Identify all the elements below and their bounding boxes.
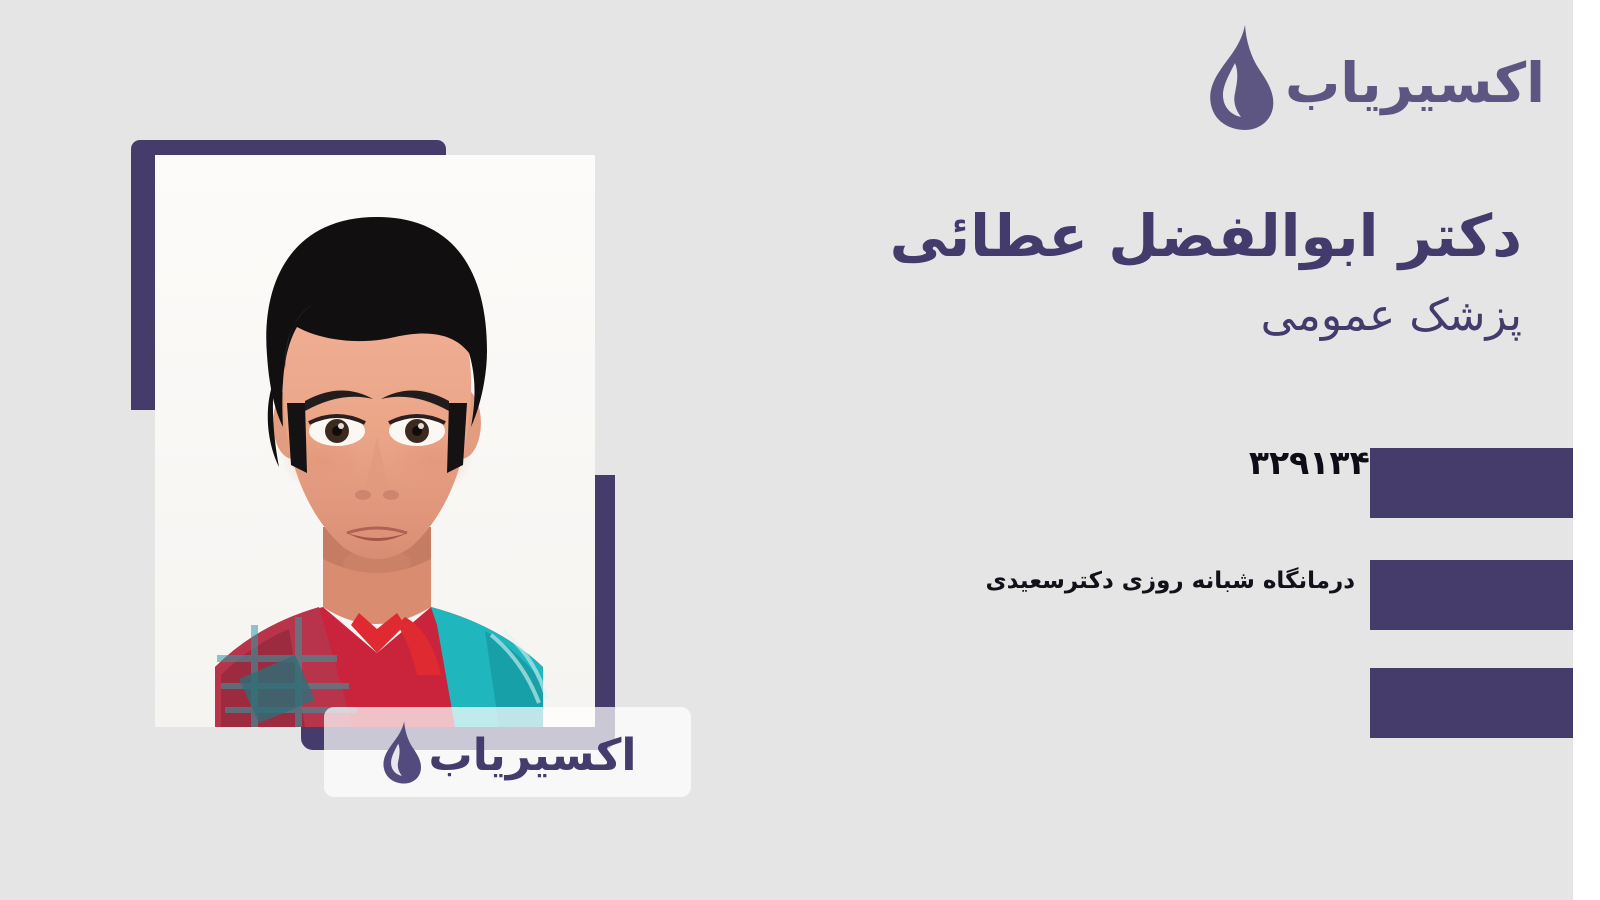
doctor-photo-block: اکسیریاب [131, 140, 615, 750]
brand-wordmark: اکسیریاب [1285, 56, 1545, 111]
doctor-name: دکتر ابوالفضل عطائی [822, 200, 1522, 273]
photo-watermark: اکسیریاب [324, 707, 691, 797]
doctor-clinic-name: درمانگاه شبانه روزی دکترسعیدی [986, 568, 1355, 594]
flame-drop-icon [1201, 23, 1275, 131]
doctor-photo [155, 155, 595, 727]
brand-logo[interactable]: اکسیریاب [1201, 22, 1545, 132]
decor-bar-2 [1370, 560, 1573, 630]
doctor-specialty: پزشک عمومی [822, 287, 1522, 344]
watermark-flame-drop-icon [378, 719, 422, 785]
profile-card-canvas: اکسیریاب [0, 0, 1600, 900]
decor-bar-3 [1370, 668, 1573, 738]
decor-bar-1 [1370, 448, 1573, 518]
doctor-info: دکتر ابوالفضل عطائی پزشک عمومی [822, 200, 1522, 344]
watermark-wordmark: اکسیریاب [428, 734, 636, 778]
